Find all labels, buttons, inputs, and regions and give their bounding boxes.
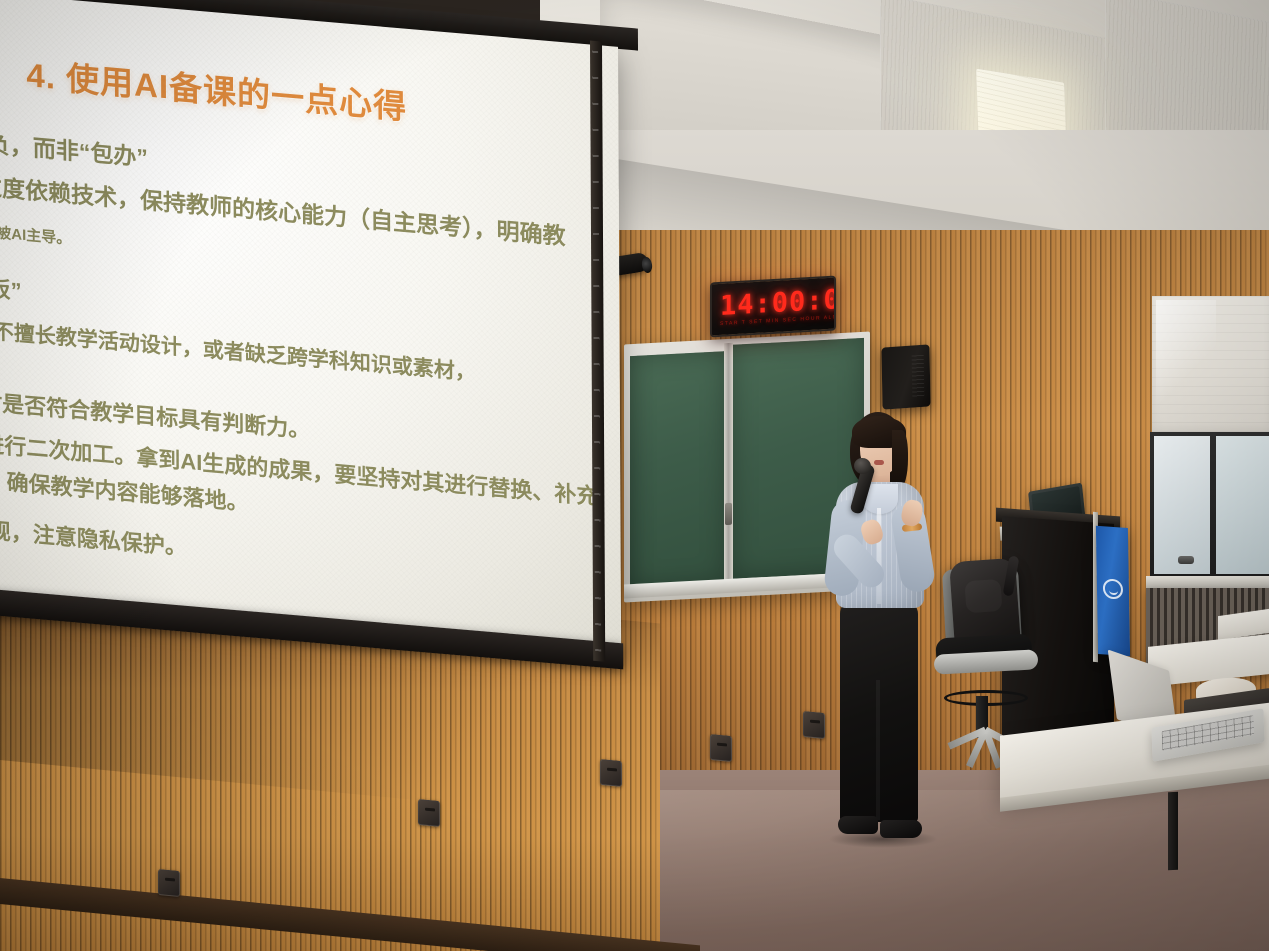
projection-screen: 4. 使用AI备课的一点心得 AI减负，而非“包办” 避免过度依赖技术，保持教师… bbox=[0, 0, 621, 647]
slide-line: “补短板” bbox=[0, 266, 22, 306]
window-pane-right bbox=[1216, 436, 1269, 574]
blue-banner bbox=[1096, 526, 1130, 656]
wall-outlet bbox=[418, 799, 440, 827]
blind-highlight bbox=[1156, 300, 1216, 420]
slide-line: AI减负，而非“包办” bbox=[0, 121, 148, 173]
wall-speaker bbox=[881, 344, 930, 409]
blackboard-panel-left bbox=[630, 351, 726, 588]
projection-screen-assembly: 4. 使用AI备课的一点心得 AI减负，而非“包办” 避免过度依赖技术，保持教师… bbox=[0, 0, 641, 705]
slide-line: 避免过度依赖技术，保持教师的核心能力（自主思考），明确教 bbox=[0, 163, 566, 251]
presenter-leg-split bbox=[876, 680, 880, 820]
digital-clock: 14:00:09 STAR T SET MIN SEC HOUR ALM bbox=[710, 275, 836, 337]
wall-outlet bbox=[158, 869, 180, 897]
slide-line: 学思路被AI主导。 bbox=[0, 218, 71, 249]
slide-line: 。例如不擅长教学活动设计，或者缺乏跨学科知识或素材， bbox=[0, 310, 476, 387]
wall-outlet bbox=[710, 734, 732, 762]
presenter-shoe-right bbox=[880, 820, 922, 838]
slide-line: 要合规，注意隐私保护。 bbox=[0, 509, 187, 562]
banner-logo-icon bbox=[1103, 578, 1123, 599]
presenter-mouth bbox=[874, 460, 884, 465]
classroom-photo: 14:00:09 STAR T SET MIN SEC HOUR ALM 4. … bbox=[0, 0, 1269, 951]
blackboard-handle[interactable] bbox=[725, 503, 732, 525]
presenter-shoe-left bbox=[838, 816, 878, 834]
window-latch[interactable] bbox=[1178, 556, 1194, 564]
slide-content: 4. 使用AI备课的一点心得 AI减负，而非“包办” 避免过度依赖技术，保持教师… bbox=[0, 0, 621, 647]
blackboard-divider bbox=[724, 343, 733, 583]
presenter-hair-side bbox=[892, 430, 908, 488]
window-pane-left bbox=[1154, 436, 1210, 574]
presenter bbox=[822, 412, 940, 862]
slide-title: 4. 使用AI备课的一点心得 bbox=[26, 48, 546, 141]
wall-outlet bbox=[600, 759, 622, 787]
table-leg bbox=[1168, 792, 1178, 871]
